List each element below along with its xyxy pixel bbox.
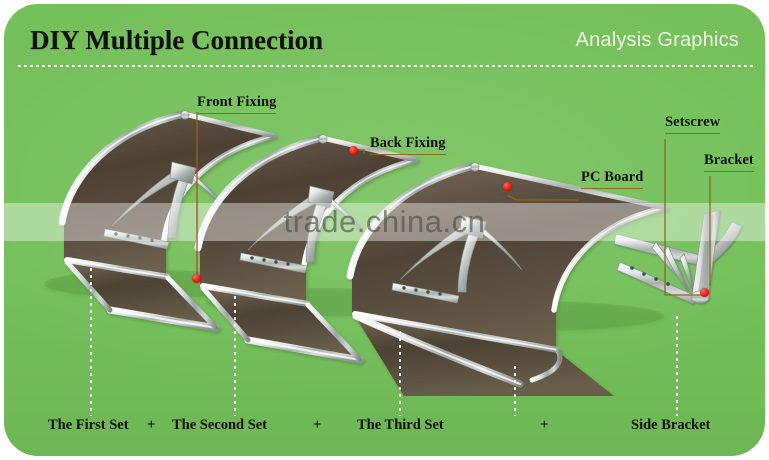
section-dividers [4, 66, 765, 456]
caption-plus-2: + [313, 414, 322, 436]
header-subtitle: Analysis Graphics [576, 29, 739, 52]
caption-second-set: The Second Set [172, 414, 267, 436]
header-bar: DIY Multiple Connection Analysis Graphic… [4, 4, 765, 66]
green-background-panel: DIY Multiple Connection Analysis Graphic… [4, 4, 765, 456]
caption-side-bracket: Side Bracket [631, 414, 710, 436]
caption-plus-1: + [147, 414, 156, 436]
divider-side-bracket [676, 316, 678, 416]
divider-set-3 [399, 331, 401, 416]
caption-row: The First Set + The Second Set + The Thi… [4, 414, 765, 444]
caption-plus-3: + [540, 414, 549, 436]
caption-third-set: The Third Set [357, 414, 444, 436]
divider-set-2 [234, 296, 236, 416]
caption-first-set: The First Set [48, 414, 129, 436]
divider-set-4 [514, 366, 516, 416]
page-title: DIY Multiple Connection [30, 25, 323, 56]
divider-set-1 [90, 261, 92, 416]
poster-root: DIY Multiple Connection Analysis Graphic… [0, 0, 769, 460]
